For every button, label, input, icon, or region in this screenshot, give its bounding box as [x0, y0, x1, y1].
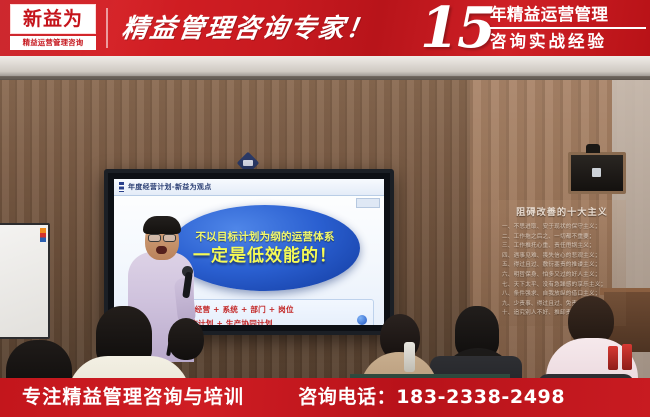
company-logo: 新益为 精益运营管理咨询 [10, 4, 96, 52]
slogan-block: 精益管理咨询专家！ [122, 8, 392, 50]
slogan-text: 精益管理咨询专家！ [120, 16, 376, 42]
cup [622, 344, 632, 370]
logo-tagline-box: 精益运营管理咨询 [10, 36, 96, 50]
attendee-head [168, 318, 204, 360]
bottom-banner: 专注精益管理咨询与培训 咨询电话：183-2338-2498 [0, 378, 650, 417]
logo-name: 新益为 [23, 10, 83, 29]
years-rule [490, 27, 646, 29]
poster-item: 八、条件强求、自我放纵的借口主义； [502, 290, 626, 300]
footer-tagline: 专注精益管理咨询与培训 [22, 388, 244, 407]
speaker-mount [586, 144, 600, 153]
footer-phone: 咨询电话：183-2338-2498 [298, 388, 565, 407]
logo-name-box: 新益为 [10, 4, 96, 34]
cup [608, 346, 618, 370]
poster-item: 七、天下太平、没有急躁感的享乐主义； [502, 281, 626, 291]
slide-corner-badge [356, 198, 380, 208]
presenter-mouth [156, 246, 167, 254]
top-banner: 新益为 精益运营管理咨询 精益管理咨询专家！ 15 年精益运营管理 咨询实战经验 [0, 0, 650, 56]
logo-tagline: 精益运营管理咨询 [23, 39, 84, 46]
poster-item: 五、得过且过、敷衍塞责的推诿主义； [502, 261, 626, 271]
poster-item: 二、工作拖之后之、一切都不重要； [502, 233, 626, 243]
slide-oval-callout: 不以目标计划为纲的运营体系 一定是低效能的！ [170, 205, 360, 291]
wall-speaker [568, 152, 626, 194]
slide-header-title: 年度经营计划-新益为观点 [128, 182, 212, 192]
presenter-glasses-icon [148, 234, 176, 240]
poster-image: 新益为 精益运营管理咨询 精益管理咨询专家！ 15 年精益运营管理 咨询实战经验 [0, 0, 650, 417]
seminar-photo: 阻碍改善的十大主义 一、不思进取、安于现状的保守主义； 二、工作拖之后之、一切都… [0, 56, 650, 378]
poster-title: 阻碍改善的十大主义 [498, 204, 626, 218]
slide-header: 年度经营计划-新益为观点 [114, 179, 384, 196]
slide-decor-dot [357, 315, 367, 325]
presenter-hair [143, 216, 181, 234]
slide-oval-line-1: 不以目标计划为纲的运营体系 [195, 230, 334, 244]
years-line-2: 咨询实战经验 [490, 31, 646, 53]
ceiling [0, 56, 650, 78]
years-line-1: 年精益运营管理 [490, 4, 646, 26]
poster-item: 四、遇事见难、畏失信心的悲观主义； [502, 252, 626, 262]
logo-divider [106, 8, 108, 48]
years-text-block: 年精益运营管理 咨询实战经验 [490, 4, 646, 53]
marker-tray-icon [40, 228, 46, 242]
water-bottle [404, 342, 415, 372]
slide-oval-line-2: 一定是低效能的！ [193, 245, 337, 267]
poster-item: 六、明哲保身、怕多又过的好人主义； [502, 271, 626, 281]
years-number: 15 [420, 0, 494, 56]
slide-bullet-icon [119, 182, 124, 192]
poster-item: 一、不思进取、安于现状的保守主义； [502, 223, 626, 233]
poster-item: 三、工作推托心重、责任甩锅主义； [502, 242, 626, 252]
